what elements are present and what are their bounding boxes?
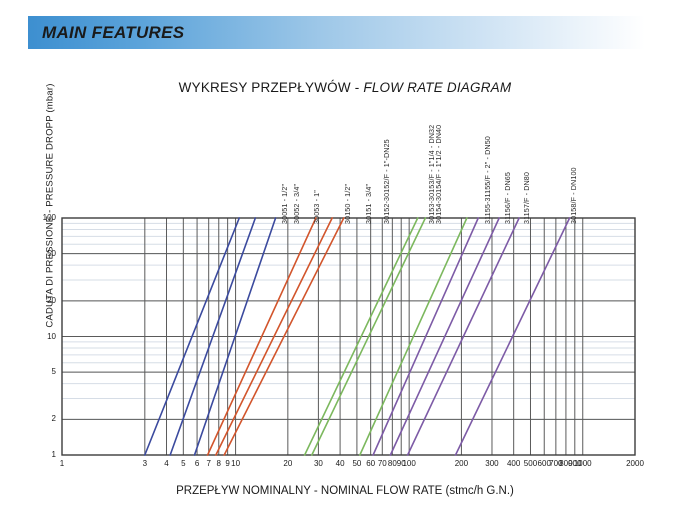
x-tick-label: 20 — [274, 459, 302, 468]
y-tick-label: 50 — [30, 249, 56, 258]
x-tick-label: 1000 — [569, 459, 597, 468]
series-label: 30150 - 1/2" — [343, 184, 352, 224]
y-tick-label: 20 — [30, 296, 56, 305]
x-tick-label: 100 — [395, 459, 423, 468]
x-axis-title: PRZEPŁYW NOMINALNY - NOMINAL FLOW RATE (… — [0, 485, 690, 497]
x-tick-label: 1 — [48, 459, 76, 468]
series-label: 30151 - 3/4" — [364, 184, 373, 224]
series-label: 31156/F - DN65 — [503, 172, 512, 224]
flow-rate-diagram: CADUTA DI PRESSIONE - PRESSURE DROPP (mb… — [0, 0, 690, 517]
series-label: 30154-30154/F - 1"1/2 - DN40 — [434, 125, 443, 224]
series-label: 30053 - 1" — [312, 190, 321, 224]
y-tick-label: 5 — [30, 367, 56, 376]
y-tick-label: 1 — [30, 450, 56, 459]
series-label: 31157/F - DN80 — [522, 172, 531, 224]
x-tick-label: 200 — [447, 459, 475, 468]
grid-major-lines — [62, 218, 635, 455]
chart-svg — [0, 0, 690, 517]
y-tick-label: 100 — [30, 213, 56, 222]
series-label: 30051 - 1/2" — [280, 184, 289, 224]
series-label: 30158/F - DN100 — [569, 167, 578, 224]
series-label: 30152-30152/F - 1"-DN25 — [382, 139, 391, 224]
x-tick-label: 10 — [222, 459, 250, 468]
series-label: 30052 - 3/4" — [292, 184, 301, 224]
y-tick-label: 2 — [30, 414, 56, 423]
series-label: 31155-31155/F - 2" - DN50 — [483, 136, 492, 224]
y-tick-label: 10 — [30, 332, 56, 341]
x-tick-label: 2000 — [621, 459, 649, 468]
